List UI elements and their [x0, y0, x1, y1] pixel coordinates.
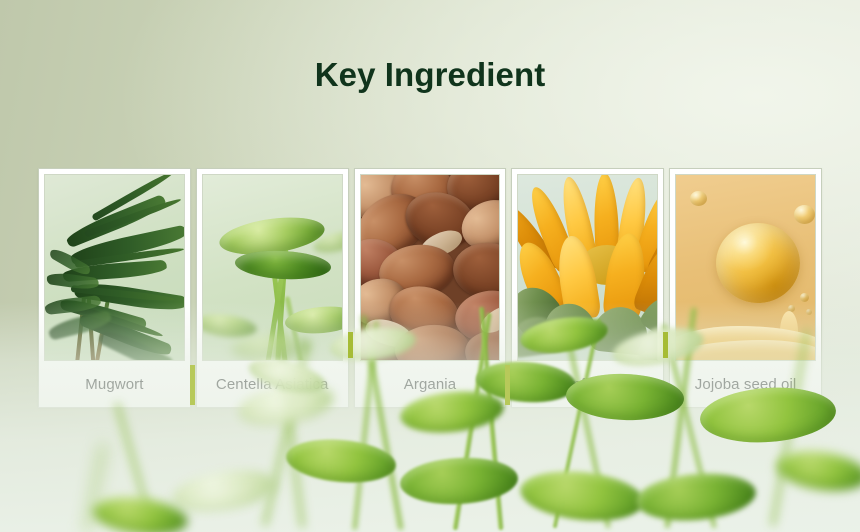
ingredient-label: Jojoba seed oil — [675, 361, 816, 407]
background-stem — [84, 443, 106, 532]
oil-droplet-large — [716, 223, 800, 303]
argania-photo — [360, 174, 501, 361]
ingredient-card-centella-asiatica[interactable]: Centella Asiatica — [196, 168, 349, 408]
centella-leaf — [234, 249, 331, 282]
ingredient-label: Argania — [360, 361, 501, 407]
background-leaf — [518, 466, 646, 527]
card-accent-tab — [190, 365, 195, 405]
background-stem — [114, 402, 155, 528]
page-title: Key Ingredient — [0, 56, 860, 94]
card-accent-tab — [663, 332, 668, 358]
background-leaf — [90, 492, 190, 532]
oil-droplet-small — [690, 191, 707, 206]
oil-droplet-small — [806, 309, 812, 315]
ingredient-card-row: Mugwort Centella Asiatica — [38, 168, 822, 408]
card-accent-tab — [505, 365, 510, 405]
background-leaf — [399, 455, 519, 507]
card-accent-tab — [348, 332, 353, 358]
oil-droplet-small — [794, 205, 815, 224]
background-leaf — [284, 435, 397, 486]
ingredient-card-sunflower[interactable]: Sunflower — [511, 168, 664, 408]
sunflower-photo — [517, 174, 658, 361]
ingredient-card-mugwort[interactable]: Mugwort — [38, 168, 191, 408]
background-leaf — [634, 469, 758, 525]
ingredient-card-argania[interactable]: Argania — [354, 168, 507, 408]
mugwort-photo — [44, 174, 185, 361]
oil-droplet-small — [800, 293, 809, 302]
centella-asiatica-photo — [202, 174, 343, 361]
centella-leaf — [202, 311, 258, 340]
ingredient-label: Centella Asiatica — [202, 361, 343, 407]
background-leaf — [774, 446, 860, 496]
jojoba-seed-oil-photo — [675, 174, 816, 361]
ingredient-card-jojoba-seed-oil[interactable]: Jojoba seed oil — [669, 168, 822, 408]
background-leaf — [170, 464, 279, 518]
key-ingredient-banner: Key Ingredient — [0, 0, 860, 532]
ingredient-label: Mugwort — [44, 361, 185, 407]
page-title-wrap: Key Ingredient — [0, 56, 860, 94]
ingredient-label: Sunflower — [517, 361, 658, 407]
